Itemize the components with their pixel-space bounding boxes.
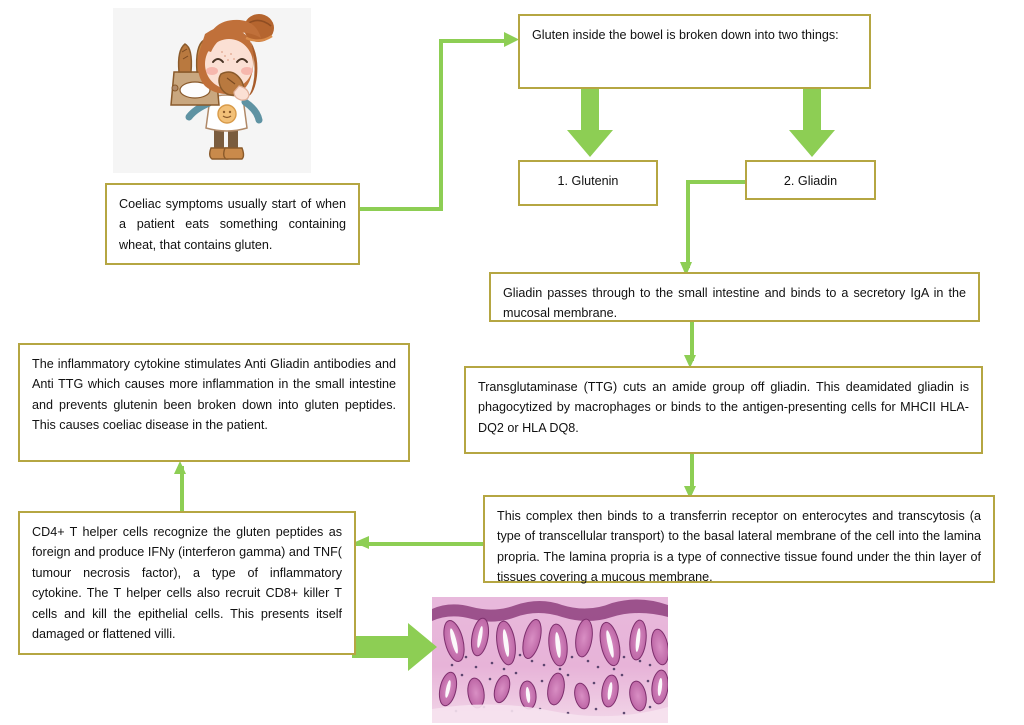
box-inflammatory-cytokine[interactable]: The inflammatory cytokine stimulates Ant… (18, 343, 410, 462)
connector-gliadin-v (686, 180, 690, 268)
connector-complex-cd4 (356, 542, 484, 546)
box-glutenin-text: 1. Glutenin (532, 171, 644, 191)
histology-illustration (432, 597, 668, 723)
connector-gliadin-h (686, 180, 748, 184)
box-transglutaminase[interactable]: Transglutaminase (TTG) cuts an amide gro… (464, 366, 983, 454)
block-arrow-to-glutenin (566, 88, 614, 158)
connector-cd4-inflammatory (180, 466, 184, 512)
box-inflammatory-text: The inflammatory cytokine stimulates Ant… (32, 354, 396, 436)
block-arrow-to-histology (352, 622, 438, 672)
box-gliadin[interactable]: 2. Gliadin (745, 160, 876, 200)
connector-ttg-complex (690, 452, 694, 490)
histology-micrograph-image (432, 597, 668, 723)
box-cd4-text: CD4+ T helper cells recognize the gluten… (32, 522, 342, 644)
connector-coeliac-h1 (359, 207, 443, 211)
box-gluten-breakdown[interactable]: Gluten inside the bowel is broken down i… (518, 14, 871, 89)
block-arrow-to-gliadin (788, 88, 836, 158)
box-gluten-text: Gluten inside the bowel is broken down i… (532, 25, 857, 45)
box-gliadin-text: 2. Gliadin (759, 171, 862, 191)
box-complex-text: This complex then binds to a transferrin… (497, 506, 981, 588)
box-complex-binds[interactable]: This complex then binds to a transferrin… (483, 495, 995, 583)
box-transglutaminase-text: Transglutaminase (TTG) cuts an amide gro… (478, 377, 969, 438)
flowchart-canvas: Coeliac symptoms usually start of when a… (0, 0, 1024, 725)
box-coeliac-symptoms[interactable]: Coeliac symptoms usually start of when a… (105, 183, 360, 265)
box-cd4-t-cells[interactable]: CD4+ T helper cells recognize the gluten… (18, 511, 356, 655)
girl-eating-bread-image (113, 8, 311, 173)
box-gliadin-passes-text: Gliadin passes through to the small inte… (503, 283, 966, 324)
girl-illustration (113, 8, 311, 173)
box-glutenin[interactable]: 1. Glutenin (518, 160, 658, 206)
connector-coeliac-v (439, 39, 443, 211)
box-coeliac-text: Coeliac symptoms usually start of when a… (119, 194, 346, 255)
connector-gliadinpasses-ttg (690, 321, 694, 361)
connector-coeliac-h2 (439, 39, 507, 43)
box-gliadin-passes[interactable]: Gliadin passes through to the small inte… (489, 272, 980, 322)
